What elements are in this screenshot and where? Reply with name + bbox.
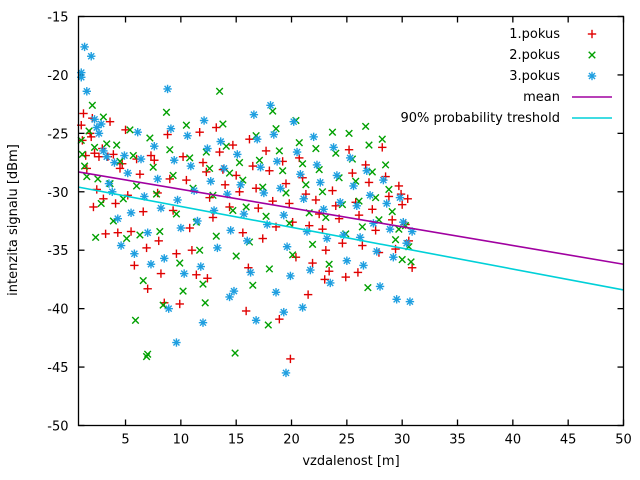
data-point-marker [243, 237, 251, 245]
data-point-marker [280, 308, 288, 316]
data-point-marker [280, 211, 288, 219]
data-point-marker [233, 150, 241, 158]
y-tick-label: -15 [47, 11, 68, 26]
data-point-marker [313, 161, 321, 169]
x-tick-label: 45 [560, 433, 577, 448]
data-point-marker [246, 268, 254, 276]
data-point-marker [392, 295, 400, 303]
data-point-marker [134, 128, 142, 136]
data-point-marker [200, 116, 208, 124]
data-point-marker [127, 209, 135, 217]
data-point-marker [173, 196, 181, 204]
data-point-marker [250, 110, 258, 118]
y-tick-label: -40 [47, 303, 68, 318]
y-tick-label: -35 [47, 244, 68, 259]
data-point-marker [369, 219, 377, 227]
data-point-marker [180, 269, 188, 277]
data-point-marker [90, 115, 98, 123]
data-point-marker [299, 195, 307, 203]
legend-label: 1.pokus [509, 27, 560, 42]
data-point-marker [110, 158, 118, 166]
data-point-marker [588, 72, 596, 80]
x-tick-label: 50 [615, 433, 632, 448]
data-point-marker [187, 162, 195, 170]
y-tick-label: -25 [47, 127, 68, 142]
x-tick-label: 35 [449, 433, 466, 448]
data-point-marker [164, 304, 172, 312]
scatter-plot-canvas: 5101520253035404550-15-20-25-30-35-40-45… [0, 0, 640, 480]
data-point-marker [270, 130, 278, 138]
data-point-marker [236, 181, 244, 189]
data-point-marker [172, 338, 180, 346]
data-point-marker [316, 178, 324, 186]
data-point-marker [359, 261, 367, 269]
data-point-marker [272, 288, 280, 296]
data-point-marker [309, 133, 317, 141]
data-point-marker [130, 250, 138, 258]
data-point-marker [183, 131, 191, 139]
data-point-marker [329, 143, 337, 151]
data-point-marker [143, 228, 151, 236]
data-point-marker [333, 171, 341, 179]
data-point-marker [153, 175, 161, 183]
data-point-marker [296, 170, 304, 178]
y-tick-label: -30 [47, 186, 68, 201]
data-point-marker [276, 184, 284, 192]
x-tick-label: 10 [173, 433, 190, 448]
data-point-marker [240, 210, 248, 218]
x-tick-label: 25 [339, 433, 356, 448]
data-point-marker [95, 129, 103, 137]
data-point-marker [366, 191, 374, 199]
data-point-marker [167, 124, 175, 132]
data-point-marker [197, 262, 205, 270]
data-point-marker [117, 241, 125, 249]
data-point-marker [376, 282, 384, 290]
data-point-marker [105, 179, 113, 187]
data-point-marker [363, 167, 371, 175]
data-point-marker [286, 272, 294, 280]
data-point-marker [150, 142, 158, 150]
data-point-marker [220, 164, 228, 172]
data-point-marker [160, 254, 168, 262]
data-point-marker [230, 287, 238, 295]
data-point-marker [256, 163, 264, 171]
data-point-marker [114, 214, 122, 222]
data-point-marker [124, 169, 132, 177]
data-point-marker [207, 177, 215, 185]
data-point-marker [80, 43, 88, 51]
data-point-marker [252, 316, 260, 324]
data-point-marker [290, 117, 298, 125]
data-point-marker [306, 266, 314, 274]
data-point-marker [193, 217, 201, 225]
data-point-marker [103, 153, 111, 161]
data-point-marker [349, 182, 357, 190]
data-point-marker [266, 101, 274, 109]
data-point-marker [379, 176, 387, 184]
y-tick-label: -45 [47, 361, 68, 376]
data-point-marker [389, 253, 397, 261]
chart-figure: 5101520253035404550-15-20-25-30-35-40-45… [0, 0, 640, 480]
x-tick-label: 5 [121, 433, 129, 448]
data-point-marker [163, 85, 171, 93]
data-point-marker [373, 247, 381, 255]
data-point-marker [225, 293, 233, 301]
data-point-marker [323, 234, 331, 242]
data-point-marker [386, 225, 394, 233]
data-point-marker [282, 369, 290, 377]
data-point-marker [97, 120, 105, 128]
x-tick-label: 40 [505, 433, 522, 448]
data-point-marker [382, 199, 390, 207]
data-point-marker [213, 244, 221, 252]
data-point-marker [343, 257, 351, 265]
data-point-marker [137, 155, 145, 163]
legend-label: 90% probability treshold [400, 111, 560, 126]
y-tick-label: -20 [47, 69, 68, 84]
data-point-marker [203, 144, 211, 152]
legend-label: 3.pokus [509, 69, 560, 84]
y-tick-label: -50 [47, 420, 68, 435]
data-point-marker [399, 218, 407, 226]
data-point-marker [260, 189, 268, 197]
data-point-marker [336, 198, 344, 206]
data-point-marker [170, 156, 178, 164]
data-point-marker [216, 137, 224, 145]
data-point-marker [199, 318, 207, 326]
x-tick-label: 15 [228, 433, 245, 448]
legend-label: 2.pokus [509, 48, 560, 63]
data-point-marker [396, 193, 404, 201]
data-point-marker [87, 52, 95, 60]
data-point-marker [253, 135, 261, 143]
data-point-marker [273, 157, 281, 165]
data-point-marker [293, 148, 301, 156]
data-point-marker [83, 87, 91, 95]
data-point-marker [157, 204, 165, 212]
data-point-marker [226, 226, 234, 234]
data-point-marker [147, 260, 155, 268]
x-tick-label: 30 [394, 433, 411, 448]
data-point-marker [326, 279, 334, 287]
x-tick-label: 20 [283, 433, 300, 448]
y-axis-title: intenzita signalu [dBm] [6, 144, 21, 296]
data-point-marker [353, 202, 361, 210]
data-point-marker [406, 297, 414, 305]
data-point-marker [283, 243, 291, 251]
data-point-marker [177, 224, 185, 232]
data-point-marker [298, 303, 306, 311]
x-axis-title: vzdalenost [m] [302, 454, 399, 469]
data-point-marker [402, 239, 410, 247]
legend-label: mean [523, 90, 560, 105]
data-point-marker [346, 154, 354, 162]
data-point-marker [120, 151, 128, 159]
